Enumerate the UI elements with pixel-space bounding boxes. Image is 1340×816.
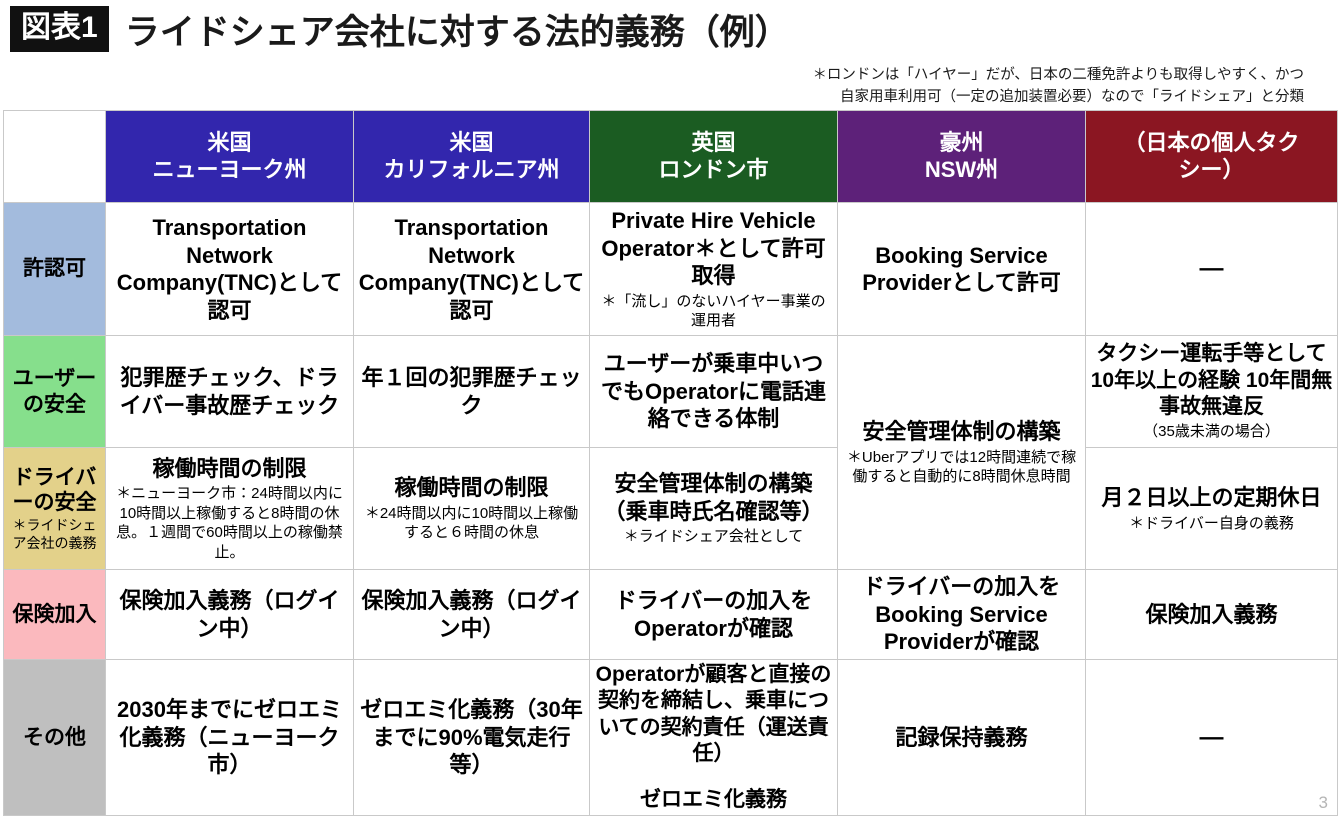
header-new-york-region: ニューヨーク州	[152, 157, 306, 182]
cell-text: ―	[1090, 724, 1333, 752]
cell-text: ドライバーの加入をBooking Service Providerが確認	[842, 573, 1081, 656]
footnote-line-2: 自家用車利用可（一定の追加装置必要）なので「ライドシェア」と分類	[684, 86, 1304, 108]
cell-user-safety-california: 年１回の犯罪歴チェック	[354, 336, 590, 448]
cell-text: ―	[1090, 255, 1333, 283]
cell-license-california: Transportation Network Company(TNC)として認可	[354, 203, 590, 336]
cell-insurance-japan: 保険加入義務	[1086, 570, 1338, 660]
header-japan: （日本の個人タク シー）	[1086, 111, 1338, 203]
cell-spacer	[594, 767, 833, 787]
cell-text: 稼働時間の制限	[358, 474, 585, 502]
cell-driver-safety-new-york: 稼働時間の制限 ＊ニューヨーク市：24時間以内に10時間以上稼働すると8時間の休…	[106, 448, 354, 570]
cell-subnote: ＊ドライバー自身の義務	[1090, 514, 1333, 534]
cell-subnote: ＊ライドシェア会社として	[594, 527, 833, 547]
cell-insurance-california: 保険加入義務（ログイン中）	[354, 570, 590, 660]
cell-other-london: Operatorが顧客と直接の契約を締結し、乗車についての契約責任（運送責任） …	[590, 660, 838, 816]
table-row-license: 許認可 Transportation Network Company(TNC)と…	[4, 203, 1338, 336]
row-label-text: ドライバーの安全	[13, 466, 97, 514]
table-row-insurance: 保険加入 保険加入義務（ログイン中） 保険加入義務（ログイン中） ドライバーの加…	[4, 570, 1338, 660]
cell-driver-safety-california: 稼働時間の制限 ＊24時間以内に10時間以上稼働すると６時間の休息	[354, 448, 590, 570]
cell-text: 稼働時間の制限	[110, 455, 349, 483]
table-row-user-safety: ユーザーの安全 犯罪歴チェック、ドライバー事故歴チェック 年１回の犯罪歴チェック…	[4, 336, 1338, 448]
cell-text-secondary: ゼロエミ化義務	[594, 787, 833, 813]
cell-license-london: Private Hire Vehicle Operator＊として許可取得 ＊「…	[590, 203, 838, 336]
table-header-row: 米国 ニューヨーク州 米国 カリフォルニア州 英国 ロンドン市 豪州 NSW州 …	[4, 111, 1338, 203]
page-number: 3	[1319, 793, 1328, 813]
row-label-subnote: ＊ライドシェア会社の義務	[8, 517, 101, 552]
cell-other-new-york: 2030年までにゼロエミ化義務（ニューヨーク市）	[106, 660, 354, 816]
cell-text: 保険加入義務（ログイン中）	[358, 587, 585, 642]
cell-user-safety-new-york: 犯罪歴チェック、ドライバー事故歴チェック	[106, 336, 354, 448]
legal-obligations-table: 米国 ニューヨーク州 米国 カリフォルニア州 英国 ロンドン市 豪州 NSW州 …	[3, 110, 1338, 816]
cell-license-new-york: Transportation Network Company(TNC)として認可	[106, 203, 354, 336]
cell-subnote: ＊24時間以内に10時間以上稼働すると６時間の休息	[358, 504, 585, 543]
header-new-york: 米国 ニューヨーク州	[106, 111, 354, 203]
header-california-region: カリフォルニア州	[383, 157, 559, 182]
header-japan-line-2: シー）	[1178, 157, 1244, 182]
cell-text: ドライバーの加入をOperatorが確認	[594, 587, 833, 642]
cell-user-safety-london: ユーザーが乗車中いつでもOperatorに電話連絡できる体制	[590, 336, 838, 448]
cell-text: タクシー運転手等として10年以上の経験 10年間無事故無違反	[1090, 341, 1333, 420]
cell-driver-safety-japan: 月２日以上の定期休日 ＊ドライバー自身の義務	[1086, 448, 1338, 570]
header-london: 英国 ロンドン市	[590, 111, 838, 203]
header-london-region: ロンドン市	[658, 157, 768, 182]
figure-badge: 図表1	[10, 6, 109, 52]
cell-text: 安全管理体制の構築（乗車時氏名確認等）	[594, 470, 833, 525]
cell-text: Booking Service Providerとして許可	[842, 242, 1081, 297]
row-label-driver-safety: ドライバーの安全 ＊ライドシェア会社の義務	[4, 448, 106, 570]
row-label-other: その他	[4, 660, 106, 816]
header-nsw-region: NSW州	[925, 157, 998, 182]
row-label-license: 許認可	[4, 203, 106, 336]
header-california: 米国 カリフォルニア州	[354, 111, 590, 203]
cell-text: Operatorが顧客と直接の契約を締結し、乗車についての契約責任（運送責任）	[594, 662, 833, 767]
cell-driver-safety-london: 安全管理体制の構築（乗車時氏名確認等） ＊ライドシェア会社として	[590, 448, 838, 570]
header-london-country: 英国	[691, 130, 735, 155]
cell-insurance-nsw: ドライバーの加入をBooking Service Providerが確認	[838, 570, 1086, 660]
cell-text: Transportation Network Company(TNC)として認可	[358, 214, 585, 324]
cell-text: Private Hire Vehicle Operator＊として許可取得	[594, 207, 833, 290]
header-japan-line-1: （日本の個人タク	[1123, 130, 1299, 155]
cell-text: 月２日以上の定期休日	[1090, 484, 1333, 512]
page-title: ライドシェア会社に対する法的義務（例）	[125, 4, 790, 55]
header-new-york-country: 米国	[207, 130, 251, 155]
table-row-driver-safety: ドライバーの安全 ＊ライドシェア会社の義務 稼働時間の制限 ＊ニューヨーク市：2…	[4, 448, 1338, 570]
cell-subnote: （35歳未満の場合）	[1090, 422, 1333, 442]
row-label-insurance: 保険加入	[4, 570, 106, 660]
footnote-line-1: ＊ロンドンは「ハイヤー」だが、日本の二種免許よりも取得しやすく、かつ	[684, 64, 1304, 86]
cell-subnote: ＊「流し」のないハイヤー事業の運用者	[594, 292, 833, 331]
cell-other-nsw: 記録保持義務	[838, 660, 1086, 816]
cell-text: ユーザーが乗車中いつでもOperatorに電話連絡できる体制	[594, 350, 833, 433]
cell-user-safety-japan: タクシー運転手等として10年以上の経験 10年間無事故無違反 （35歳未満の場合…	[1086, 336, 1338, 448]
cell-text: Transportation Network Company(TNC)として認可	[110, 214, 349, 324]
cell-license-nsw: Booking Service Providerとして許可	[838, 203, 1086, 336]
header-nsw-country: 豪州	[939, 130, 983, 155]
cell-text: 安全管理体制の構築	[842, 418, 1081, 446]
cell-insurance-london: ドライバーの加入をOperatorが確認	[590, 570, 838, 660]
cell-text: 記録保持義務	[842, 724, 1081, 752]
cell-text: ゼロエミ化義務（30年までに90%電気走行等）	[358, 696, 585, 779]
cell-license-japan: ―	[1086, 203, 1338, 336]
cell-safety-nsw-merged: 安全管理体制の構築 ＊Uberアプリでは12時間連続で稼働すると自動的に8時間休…	[838, 336, 1086, 570]
cell-text: 2030年までにゼロエミ化義務（ニューヨーク市）	[110, 696, 349, 779]
header-nsw: 豪州 NSW州	[838, 111, 1086, 203]
cell-text: 保険加入義務	[1090, 601, 1333, 629]
row-label-user-safety: ユーザーの安全	[4, 336, 106, 448]
header-footnote: ＊ロンドンは「ハイヤー」だが、日本の二種免許よりも取得しやすく、かつ 自家用車利…	[684, 64, 1304, 109]
header-corner-blank	[4, 111, 106, 203]
table-row-other: その他 2030年までにゼロエミ化義務（ニューヨーク市） ゼロエミ化義務（30年…	[4, 660, 1338, 816]
title-row: 図表1 ライドシェア会社に対する法的義務（例）	[0, 0, 1340, 58]
cell-text: 保険加入義務（ログイン中）	[110, 587, 349, 642]
cell-text: 年１回の犯罪歴チェック	[358, 364, 585, 419]
header-california-country: 米国	[449, 130, 493, 155]
cell-text: 犯罪歴チェック、ドライバー事故歴チェック	[110, 364, 349, 419]
cell-insurance-new-york: 保険加入義務（ログイン中）	[106, 570, 354, 660]
cell-subnote: ＊Uberアプリでは12時間連続で稼働すると自動的に8時間休息時間	[842, 448, 1081, 487]
cell-subnote: ＊ニューヨーク市：24時間以内に10時間以上稼働すると8時間の休息。１週間で60…	[110, 484, 349, 562]
cell-other-japan: ―	[1086, 660, 1338, 816]
cell-other-california: ゼロエミ化義務（30年までに90%電気走行等）	[354, 660, 590, 816]
